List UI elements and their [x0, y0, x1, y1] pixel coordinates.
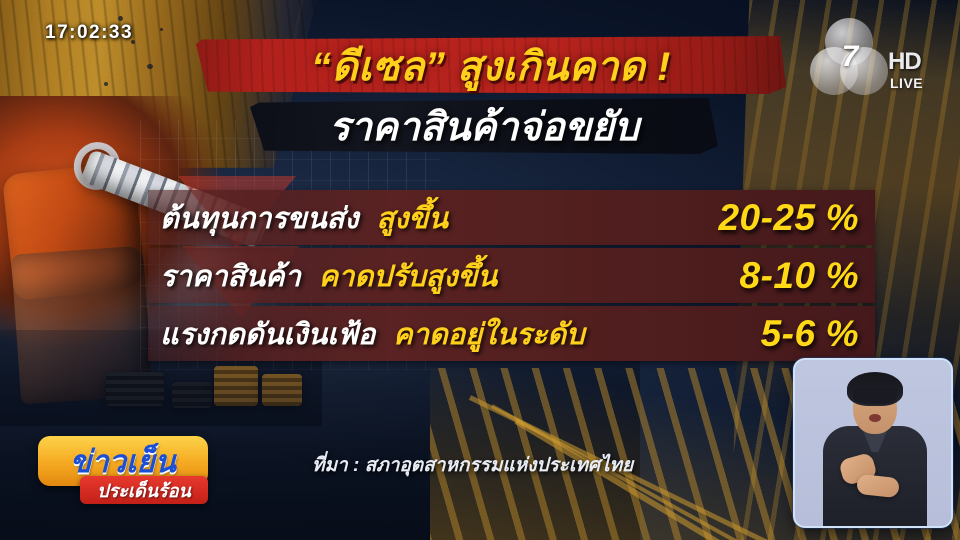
row-label: แรงกดดันเงินเฟ้อ [148, 311, 375, 357]
live-badge: LIVE [890, 75, 923, 91]
headline-sub: ราคาสินค้าจ่อขยับ [250, 100, 718, 154]
background-speck [118, 16, 123, 21]
row-value-number: 20-25 [718, 197, 815, 238]
row-qualifier: คาดอยู่ในระดับ [375, 311, 584, 357]
row-value-unit: % [816, 313, 859, 354]
interpreter-hair [847, 372, 903, 406]
table-row: ราคาสินค้า คาดปรับสูงขึ้น 8-10% [148, 248, 875, 303]
hd-badge: HD [888, 48, 921, 76]
table-row: แรงกดดันเงินเฟ้อ คาดอยู่ในระดับ 5-6% [148, 306, 875, 361]
timestamp: 17:02:33 [45, 22, 133, 44]
background-speck [147, 64, 153, 69]
row-qualifier: คาดปรับสูงขึ้น [301, 253, 497, 299]
row-value-unit: % [816, 255, 859, 296]
program-logo: ข่าวเย็น ประเด็นร้อน [38, 436, 220, 508]
channel-number: 7 [836, 40, 864, 74]
background-speck [104, 82, 108, 86]
row-value-number: 5-6 [761, 313, 816, 354]
row-label: ราคาสินค้า [148, 253, 301, 299]
row-qualifier: สูงขึ้น [359, 195, 449, 241]
table-row: ต้นทุนการขนส่ง สูงขึ้น 20-25% [148, 190, 875, 245]
row-value: 20-25% [718, 197, 875, 239]
program-subtitle: ประเด็นร้อน [80, 476, 208, 504]
data-table: ต้นทุนการขนส่ง สูงขึ้น 20-25% ราคาสินค้า… [148, 190, 875, 364]
row-value-number: 8-10 [740, 255, 816, 296]
row-value-unit: % [816, 197, 859, 238]
broadcast-screen: 17:02:33 7 HD LIVE “ดีเซล” สูงเกินคาด ! … [0, 0, 960, 540]
row-value: 5-6% [761, 313, 875, 355]
interpreter-mouth [869, 414, 881, 422]
sign-language-panel [793, 358, 953, 528]
headline-main: “ดีเซล” สูงเกินคาด ! [196, 38, 786, 94]
row-label: ต้นทุนการขนส่ง [148, 195, 359, 241]
row-value: 8-10% [740, 255, 875, 297]
background-speck [160, 28, 163, 31]
source-attribution: ที่มา : สภาอุตสาหกรรมแห่งประเทศไทย [312, 450, 633, 480]
channel-logo: 7 HD LIVE [810, 18, 938, 102]
